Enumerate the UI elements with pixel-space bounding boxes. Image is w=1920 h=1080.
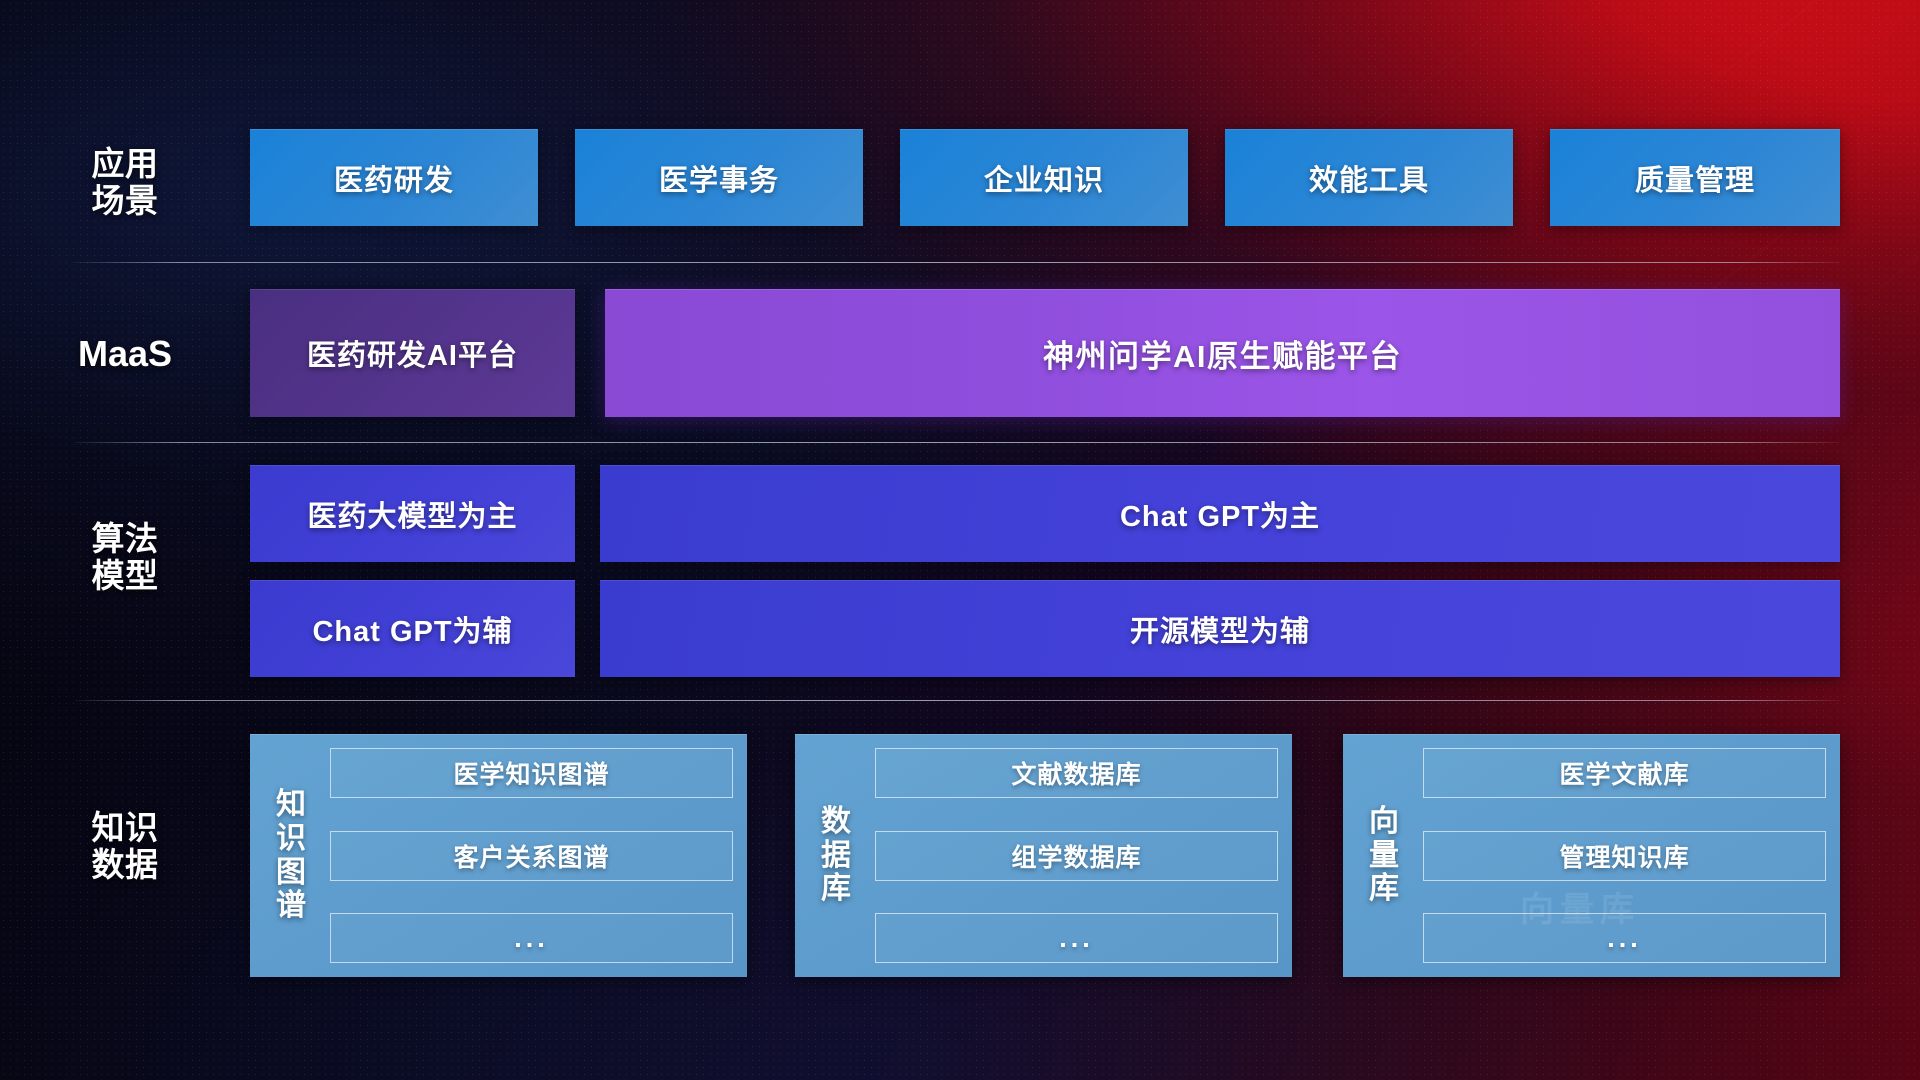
vertical-label-char: 向 — [1369, 805, 1399, 839]
vertical-label-char: 图 — [276, 856, 306, 890]
algo-box-label: Chat GPT为辅 — [312, 608, 512, 650]
algo-box-chatgpt-secondary[interactable]: Chat GPT为辅 — [250, 580, 575, 677]
app-box-label: 企业知识 — [984, 157, 1104, 199]
vertical-label-char: 谱 — [276, 889, 306, 923]
maas-box-medicine-rd-ai-platform[interactable]: 医药研发AI平台 — [250, 289, 575, 417]
knowledge-panel-knowledge-graph: 知 识 图 谱 医学知识图谱 客户关系图谱 ... — [250, 734, 747, 977]
app-box-label: 医药研发 — [334, 157, 454, 199]
app-box-label: 效能工具 — [1309, 157, 1429, 199]
app-box-medical-affairs[interactable]: 医学事务 — [575, 129, 863, 226]
algo-box-opensource-secondary[interactable]: 开源模型为辅 — [600, 580, 1840, 677]
maas-box-label: 医药研发AI平台 — [307, 332, 518, 374]
knowledge-item-list: 医学知识图谱 客户关系图谱 ... — [322, 744, 735, 967]
knowledge-item-more[interactable]: ... — [1423, 913, 1826, 963]
vertical-label-char: 库 — [1369, 872, 1399, 906]
divider-maas-algo — [75, 442, 1840, 443]
vertical-label-char: 数 — [821, 805, 851, 839]
tier-label-maas: MaaS — [60, 334, 190, 375]
knowledge-item-list: 医学文献库 管理知识库 ... — [1415, 744, 1828, 967]
knowledge-panel-database: 数 据 库 文献数据库 组学数据库 ... — [795, 734, 1292, 977]
tier-label-line: 算法 — [60, 520, 190, 557]
architecture-diagram: 应用 场景 医药研发 医学事务 企业知识 效能工具 质量管理 MaaS 医药研发… — [0, 0, 1920, 1080]
tier-label-line: 模型 — [60, 557, 190, 594]
knowledge-panel-vertical-label: 知 识 图 谱 — [260, 744, 322, 967]
knowledge-item-list: 文献数据库 组学数据库 ... — [867, 744, 1280, 967]
tier-label-line: 场景 — [60, 182, 190, 219]
vertical-label-char: 量 — [1369, 839, 1399, 873]
tier-label-line: 应用 — [60, 145, 190, 182]
algo-box-label: 开源模型为辅 — [1130, 608, 1310, 650]
app-box-enterprise-knowledge[interactable]: 企业知识 — [900, 129, 1188, 226]
divider-app-maas — [75, 262, 1840, 263]
divider-algo-knowledge — [75, 700, 1840, 701]
tier-label-line: 知识 — [60, 809, 190, 846]
app-box-efficiency-tools[interactable]: 效能工具 — [1225, 129, 1513, 226]
vertical-label-char: 据 — [821, 839, 851, 873]
knowledge-item[interactable]: 客户关系图谱 — [330, 831, 733, 881]
knowledge-item[interactable]: 管理知识库 — [1423, 831, 1826, 881]
knowledge-item-more[interactable]: ... — [875, 913, 1278, 963]
knowledge-item-more[interactable]: ... — [330, 913, 733, 963]
vertical-label-char: 知 — [276, 788, 306, 822]
knowledge-panel-vector-store: 向 量 库 医学文献库 管理知识库 ... — [1343, 734, 1840, 977]
algo-box-medicine-large-model-primary[interactable]: 医药大模型为主 — [250, 465, 575, 562]
knowledge-item[interactable]: 文献数据库 — [875, 748, 1278, 798]
algo-box-chatgpt-primary[interactable]: Chat GPT为主 — [600, 465, 1840, 562]
algo-box-label: 医药大模型为主 — [307, 493, 517, 535]
algo-box-label: Chat GPT为主 — [1120, 493, 1320, 535]
app-box-medicine-rd[interactable]: 医药研发 — [250, 129, 538, 226]
maas-box-shenzhou-wenxue-platform[interactable]: 神州问学AI原生赋能平台 — [605, 289, 1840, 417]
tier-label-line: 数据 — [60, 846, 190, 883]
app-box-label: 医学事务 — [659, 157, 779, 199]
tier-label-application-scenarios: 应用 场景 — [60, 145, 190, 220]
vertical-label-char: 库 — [821, 872, 851, 906]
knowledge-item[interactable]: 医学知识图谱 — [330, 748, 733, 798]
knowledge-panel-vertical-label: 数 据 库 — [805, 744, 867, 967]
vertical-label-char: 识 — [276, 822, 306, 856]
tier-label-knowledge-data: 知识 数据 — [60, 809, 190, 884]
knowledge-panel-vertical-label: 向 量 库 — [1353, 744, 1415, 967]
knowledge-item[interactable]: 医学文献库 — [1423, 748, 1826, 798]
maas-box-label: 神州问学AI原生赋能平台 — [1043, 331, 1402, 376]
app-box-label: 质量管理 — [1635, 157, 1755, 199]
tier-label-line: MaaS — [60, 334, 190, 375]
knowledge-item[interactable]: 组学数据库 — [875, 831, 1278, 881]
tier-label-algorithm-models: 算法 模型 — [60, 520, 190, 595]
app-box-quality-management[interactable]: 质量管理 — [1550, 129, 1840, 226]
